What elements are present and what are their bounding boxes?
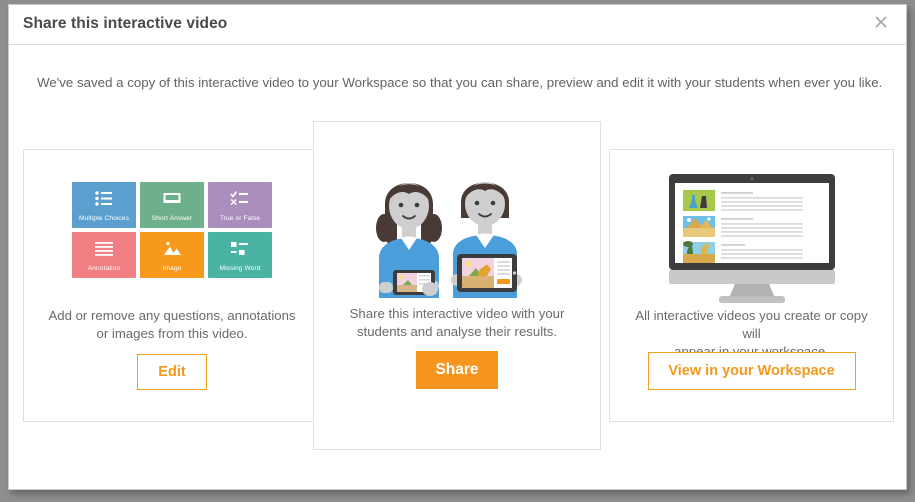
tile-true-or-false[interactable]: True or False xyxy=(208,182,272,228)
caption-line: All interactive videos you create or cop… xyxy=(628,307,875,343)
edit-button-label: Edit xyxy=(158,364,185,380)
tile-image[interactable]: Image xyxy=(140,232,204,278)
caption-line: Share this interactive video with your xyxy=(342,305,572,323)
missing-word-icon xyxy=(230,240,250,257)
edit-button[interactable]: Edit xyxy=(137,354,207,390)
bullet-list-icon xyxy=(94,190,114,207)
share-button-label: Share xyxy=(435,361,478,379)
edit-panel: Multiple Choices Short Answer xyxy=(23,149,321,422)
caption-line: Add or remove any questions, annotations xyxy=(40,307,304,325)
share-dialog: Share this interactive video We've saved… xyxy=(8,4,907,490)
caption-line: students and analyse their results. xyxy=(342,323,572,341)
tile-annotation[interactable]: Annotation xyxy=(72,232,136,278)
workspace-panel: All interactive videos you create or cop… xyxy=(609,149,894,422)
tile-label: Short Answer xyxy=(140,215,204,222)
intro-text: We've saved a copy of this interactive v… xyxy=(37,75,882,90)
lines-icon xyxy=(94,240,114,257)
dialog-header: Share this interactive video xyxy=(9,5,906,45)
share-button[interactable]: Share xyxy=(416,351,498,389)
two-students-with-tablets-illustration xyxy=(357,158,557,298)
tile-label: Annotation xyxy=(72,265,136,272)
caption-line: or images from this video. xyxy=(40,325,304,343)
share-panel: Share this interactive video with your s… xyxy=(313,121,601,450)
edit-panel-caption: Add or remove any questions, annotations… xyxy=(24,307,320,343)
page-title: Share this interactive video xyxy=(23,15,227,33)
tile-missing-word[interactable]: Missing Word xyxy=(208,232,272,278)
text-box-icon xyxy=(162,190,182,207)
picture-icon xyxy=(162,240,182,257)
tile-label: Image xyxy=(140,265,204,272)
view-in-workspace-button-label: View in your Workspace xyxy=(668,363,834,379)
check-cross-icon xyxy=(230,190,250,207)
tile-label: Multiple Choices xyxy=(72,215,136,222)
tile-label: Missing Word xyxy=(208,265,272,272)
share-panel-caption: Share this interactive video with your s… xyxy=(314,305,600,341)
question-type-tiles: Multiple Choices Short Answer xyxy=(72,182,272,278)
tile-multiple-choices[interactable]: Multiple Choices xyxy=(72,182,136,228)
tile-label: True or False xyxy=(208,215,272,222)
close-icon[interactable] xyxy=(870,12,892,34)
desktop-monitor-with-video-list-illustration xyxy=(657,172,847,304)
view-in-workspace-button[interactable]: View in your Workspace xyxy=(648,352,856,390)
tile-short-answer[interactable]: Short Answer xyxy=(140,182,204,228)
